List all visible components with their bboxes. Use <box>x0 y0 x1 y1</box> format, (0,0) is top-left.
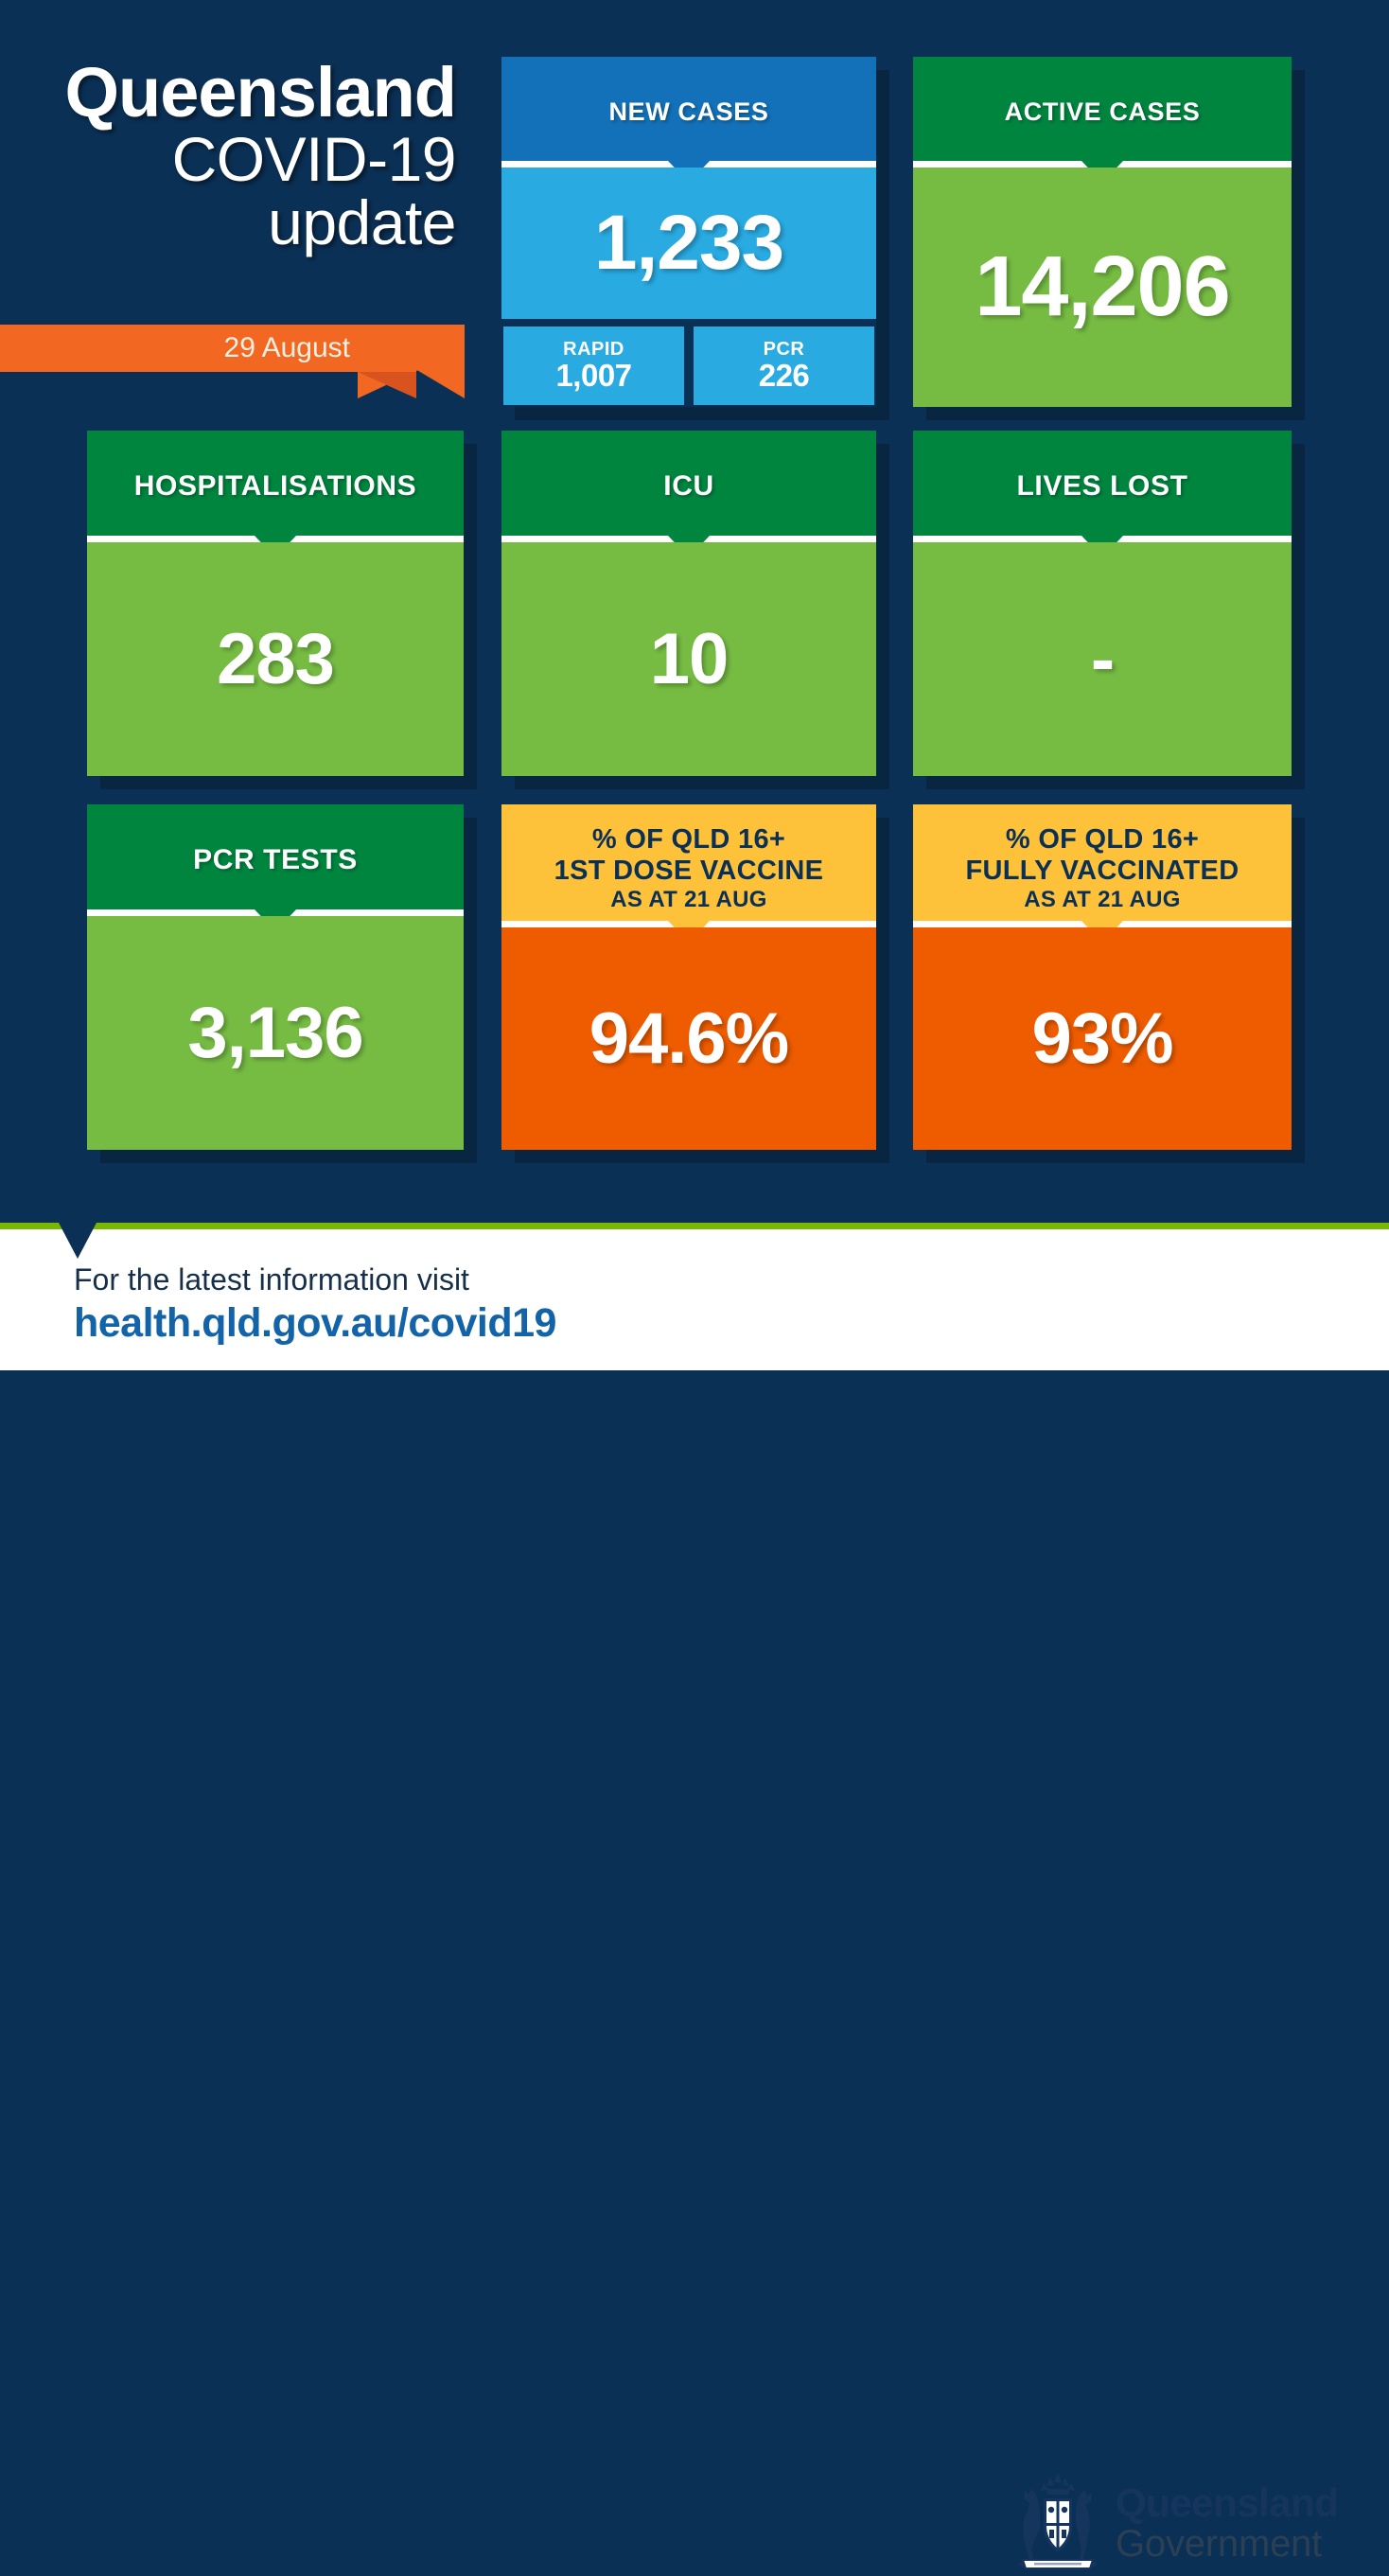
card-hospitalisations-label: HOSPITALISATIONS <box>134 471 417 502</box>
card-new-cases-label: NEW CASES <box>609 98 769 126</box>
card-pcr-tests-body: 3,136 <box>87 916 464 1150</box>
logo-queensland-text: Queensland <box>1116 2483 1338 2523</box>
card-first-dose-label-line3: AS AT 21 AUG <box>610 887 766 913</box>
card-new-cases: NEW CASES 1,233 RAPID 1,007 PCR 226 <box>501 57 876 407</box>
card-pcr-tests-header: PCR TESTS <box>87 804 464 916</box>
card-new-cases-value: 1,233 <box>594 199 783 288</box>
card-first-dose-vaccine: % OF QLD 16+ 1ST DOSE VACCINE AS AT 21 A… <box>501 804 876 1150</box>
card-hospitalisations: HOSPITALISATIONS 283 <box>87 431 464 776</box>
card-fully-vaccinated-label-line3: AS AT 21 AUG <box>1024 887 1180 913</box>
card-icu: ICU 10 <box>501 431 876 776</box>
title-line-covid19: COVID-19 <box>0 128 473 191</box>
footer-text-block: For the latest information visit health.… <box>74 1262 556 1348</box>
card-fully-vaccinated: % OF QLD 16+ FULLY VACCINATED AS AT 21 A… <box>913 804 1292 1150</box>
card-icu-value: 10 <box>650 618 729 700</box>
card-active-cases-header: ACTIVE CASES <box>913 57 1292 168</box>
new-cases-rapid-label: RAPID <box>563 339 624 360</box>
date-label: 29 August <box>0 325 416 372</box>
card-active-cases-body: 14,206 <box>913 168 1292 407</box>
date-ribbon: 29 August <box>0 325 468 383</box>
card-fully-vaccinated-header: % OF QLD 16+ FULLY VACCINATED AS AT 21 A… <box>913 804 1292 927</box>
card-first-dose-header: % OF QLD 16+ 1ST DOSE VACCINE AS AT 21 A… <box>501 804 876 927</box>
card-icu-body: 10 <box>501 542 876 776</box>
new-cases-breakdown: RAPID 1,007 PCR 226 <box>501 325 876 407</box>
footer-info-text: For the latest information visit <box>74 1262 556 1297</box>
page-title: Queensland COVID-19 update <box>0 59 473 255</box>
new-cases-pcr-value: 226 <box>759 360 810 393</box>
card-icu-header: ICU <box>501 431 876 542</box>
queensland-government-logo: Queensland Government <box>1015 2470 1338 2576</box>
card-first-dose-body: 94.6% <box>501 927 876 1150</box>
title-line-update: update <box>0 191 473 255</box>
footer-url-link[interactable]: health.qld.gov.au/covid19 <box>74 1299 556 1349</box>
card-pcr-tests: PCR TESTS 3,136 <box>87 804 464 1150</box>
chevron-down-icon <box>59 1223 97 1259</box>
card-lives-lost-header: LIVES LOST <box>913 431 1292 542</box>
card-new-cases-header: NEW CASES <box>501 57 876 168</box>
coat-of-arms-icon <box>1015 2470 1100 2576</box>
footer: For the latest information visit health.… <box>0 1223 1389 1370</box>
card-lives-lost-label: LIVES LOST <box>1016 471 1187 502</box>
card-fully-vaccinated-label-line2: FULLY VACCINATED <box>966 856 1240 887</box>
title-line-queensland: Queensland <box>0 59 473 128</box>
card-hospitalisations-value: 283 <box>217 618 334 700</box>
card-first-dose-label-line1: % OF QLD 16+ <box>592 824 785 856</box>
card-active-cases-value: 14,206 <box>975 238 1229 336</box>
card-hospitalisations-header: HOSPITALISATIONS <box>87 431 464 542</box>
card-first-dose-label-line2: 1ST DOSE VACCINE <box>554 856 824 887</box>
footer-divider <box>0 1223 1389 1229</box>
card-active-cases: ACTIVE CASES 14,206 <box>913 57 1292 407</box>
card-lives-lost: LIVES LOST - <box>913 431 1292 776</box>
new-cases-rapid-value: 1,007 <box>555 360 631 393</box>
card-fully-vaccinated-value: 93% <box>1031 997 1172 1080</box>
card-fully-vaccinated-body: 93% <box>913 927 1292 1150</box>
card-first-dose-value: 94.6% <box>589 997 789 1080</box>
logo-government-text: Government <box>1116 2525 1338 2563</box>
card-icu-label: ICU <box>663 471 713 502</box>
card-fully-vaccinated-label-line1: % OF QLD 16+ <box>1006 824 1199 856</box>
logo-wordmark: Queensland Government <box>1116 2483 1338 2563</box>
new-cases-pcr-label: PCR <box>764 339 805 360</box>
card-hospitalisations-body: 283 <box>87 542 464 776</box>
card-pcr-tests-label: PCR TESTS <box>193 845 358 875</box>
card-pcr-tests-value: 3,136 <box>187 992 362 1074</box>
card-active-cases-label: ACTIVE CASES <box>1005 98 1201 126</box>
card-lives-lost-value: - <box>1091 618 1114 700</box>
card-new-cases-body: 1,233 <box>501 168 876 319</box>
new-cases-rapid-box: RAPID 1,007 <box>501 325 686 407</box>
card-lives-lost-body: - <box>913 542 1292 776</box>
infographic-canvas: Queensland COVID-19 update 29 August NEW… <box>0 0 1389 1370</box>
new-cases-pcr-box: PCR 226 <box>692 325 876 407</box>
